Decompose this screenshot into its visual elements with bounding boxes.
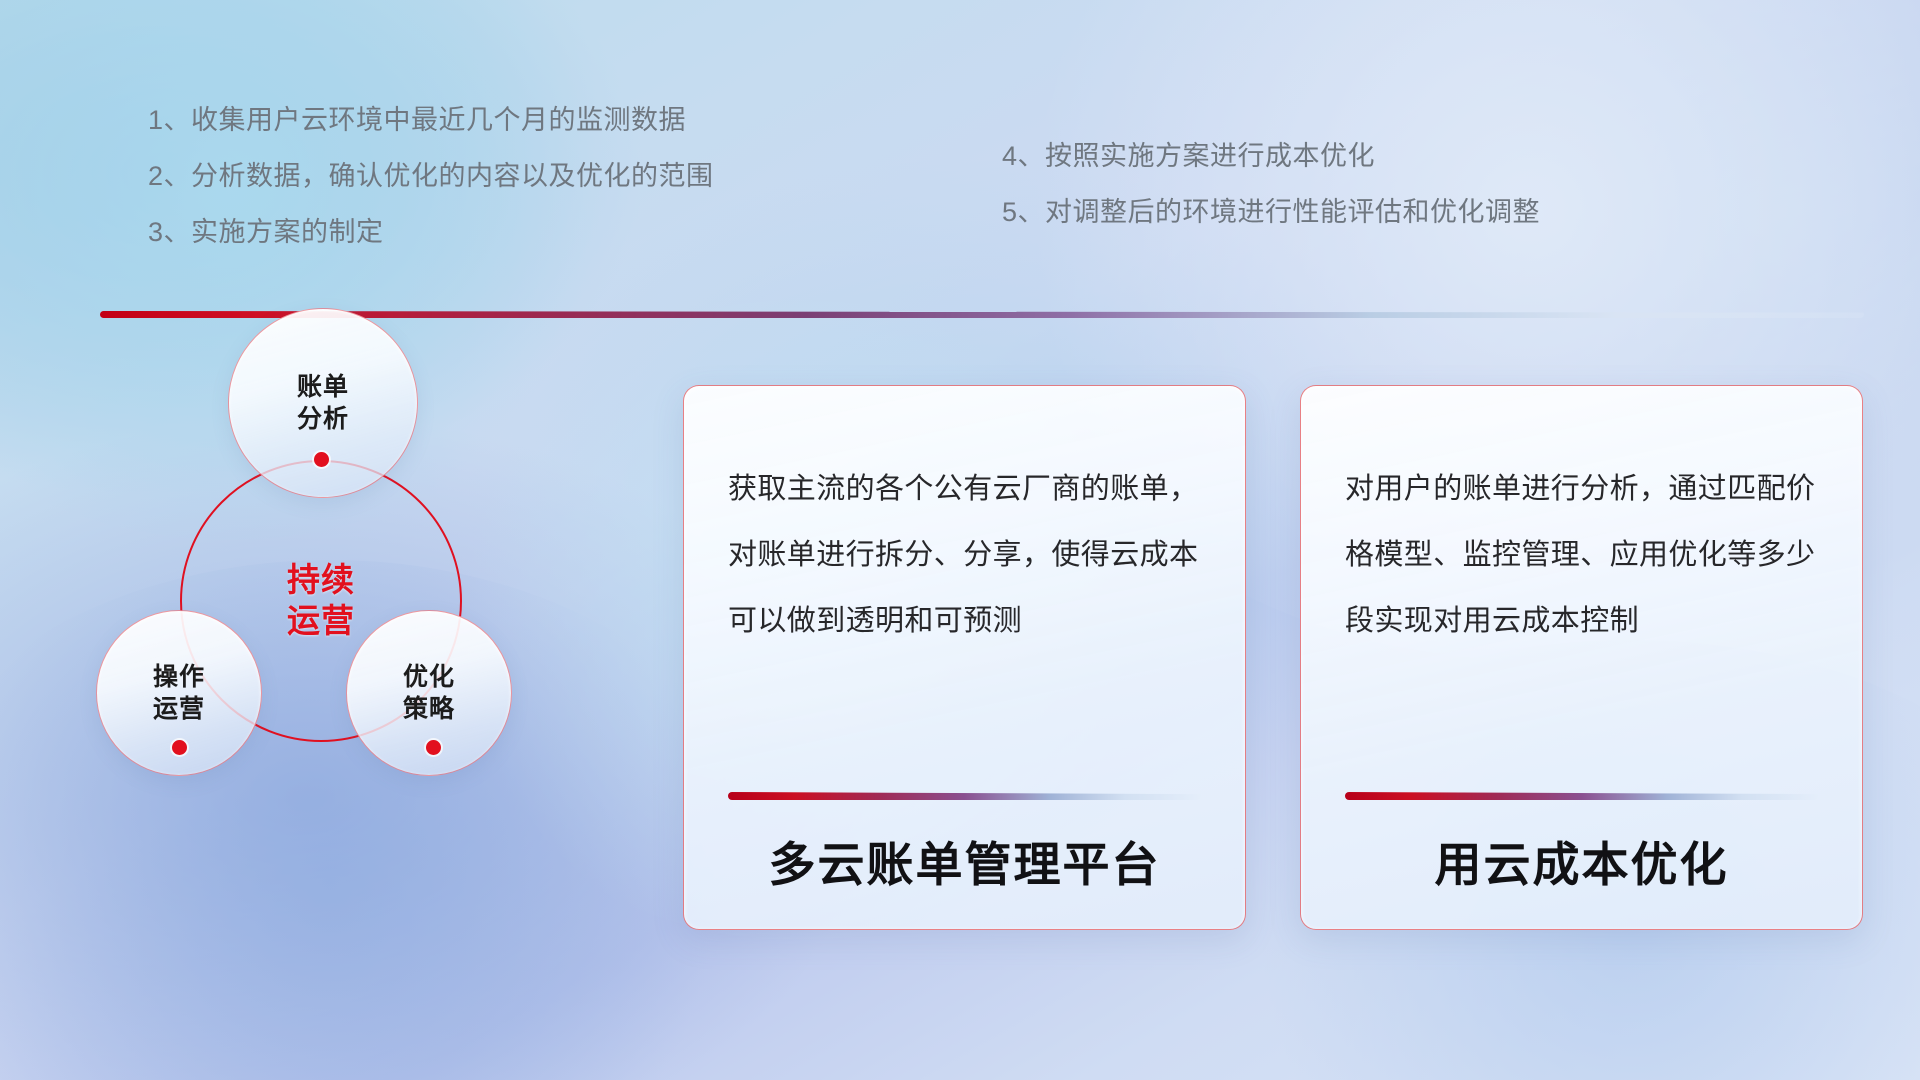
bullet-item-4: 4、按照实施方案进行成本优化 bbox=[1002, 128, 1540, 184]
slide-root: 1、收集用户云环境中最近几个月的监测数据 2、分析数据，确认优化的内容以及优化的… bbox=[0, 0, 1920, 1080]
node-label-line1: 优化 bbox=[403, 661, 455, 694]
bullet-column-right: 4、按照实施方案进行成本优化 5、对调整后的环境进行性能评估和优化调整 bbox=[1002, 128, 1540, 240]
node-label-line2: 分析 bbox=[297, 403, 349, 436]
bullet-item-3: 3、实施方案的制定 bbox=[148, 204, 714, 260]
card-cloud-cost-optimization[interactable]: 对用户的账单进行分析，通过匹配价格模型、监控管理、应用优化等多少段实现对用云成本… bbox=[1300, 385, 1863, 930]
connector-dot-top bbox=[314, 452, 329, 467]
connector-dot-left bbox=[172, 740, 187, 755]
connector-dot-right bbox=[426, 740, 441, 755]
node-label-line1: 账单 bbox=[297, 371, 349, 404]
bullet-item-2: 2、分析数据，确认优化的内容以及优化的范围 bbox=[148, 148, 714, 204]
feature-cards: 获取主流的各个公有云厂商的账单，对账单进行拆分、分享，使得云成本可以做到透明和可… bbox=[683, 385, 1863, 930]
bullet-item-5: 5、对调整后的环境进行性能评估和优化调整 bbox=[1002, 184, 1540, 240]
card-accent-rule bbox=[728, 792, 1201, 800]
center-ring-label-line2: 运营 bbox=[287, 601, 355, 642]
center-ring-label-line1: 持续 bbox=[287, 560, 355, 601]
bullet-lists: 1、收集用户云环境中最近几个月的监测数据 2、分析数据，确认优化的内容以及优化的… bbox=[0, 92, 1920, 257]
node-label-line2: 策略 bbox=[403, 693, 455, 726]
card-title: 用云成本优化 bbox=[1345, 826, 1818, 895]
node-label-line2: 运营 bbox=[153, 693, 205, 726]
card-title: 多云账单管理平台 bbox=[728, 826, 1201, 895]
diagram-node-bill-analysis[interactable]: 账单 分析 bbox=[228, 308, 418, 498]
bullet-item-1: 1、收集用户云环境中最近几个月的监测数据 bbox=[148, 92, 714, 148]
card-accent-rule bbox=[1345, 792, 1818, 800]
bullet-column-left: 1、收集用户云环境中最近几个月的监测数据 2、分析数据，确认优化的内容以及优化的… bbox=[148, 92, 714, 260]
card-body-text: 获取主流的各个公有云厂商的账单，对账单进行拆分、分享，使得云成本可以做到透明和可… bbox=[728, 456, 1201, 654]
node-label-line1: 操作 bbox=[153, 661, 205, 694]
card-body-text: 对用户的账单进行分析，通过匹配价格模型、监控管理、应用优化等多少段实现对用云成本… bbox=[1345, 456, 1818, 654]
card-multi-cloud-billing-platform[interactable]: 获取主流的各个公有云厂商的账单，对账单进行拆分、分享，使得云成本可以做到透明和可… bbox=[683, 385, 1246, 930]
continuous-operation-diagram: 持续 运营 账单 分析 操作 运营 优化 策略 bbox=[96, 352, 566, 952]
